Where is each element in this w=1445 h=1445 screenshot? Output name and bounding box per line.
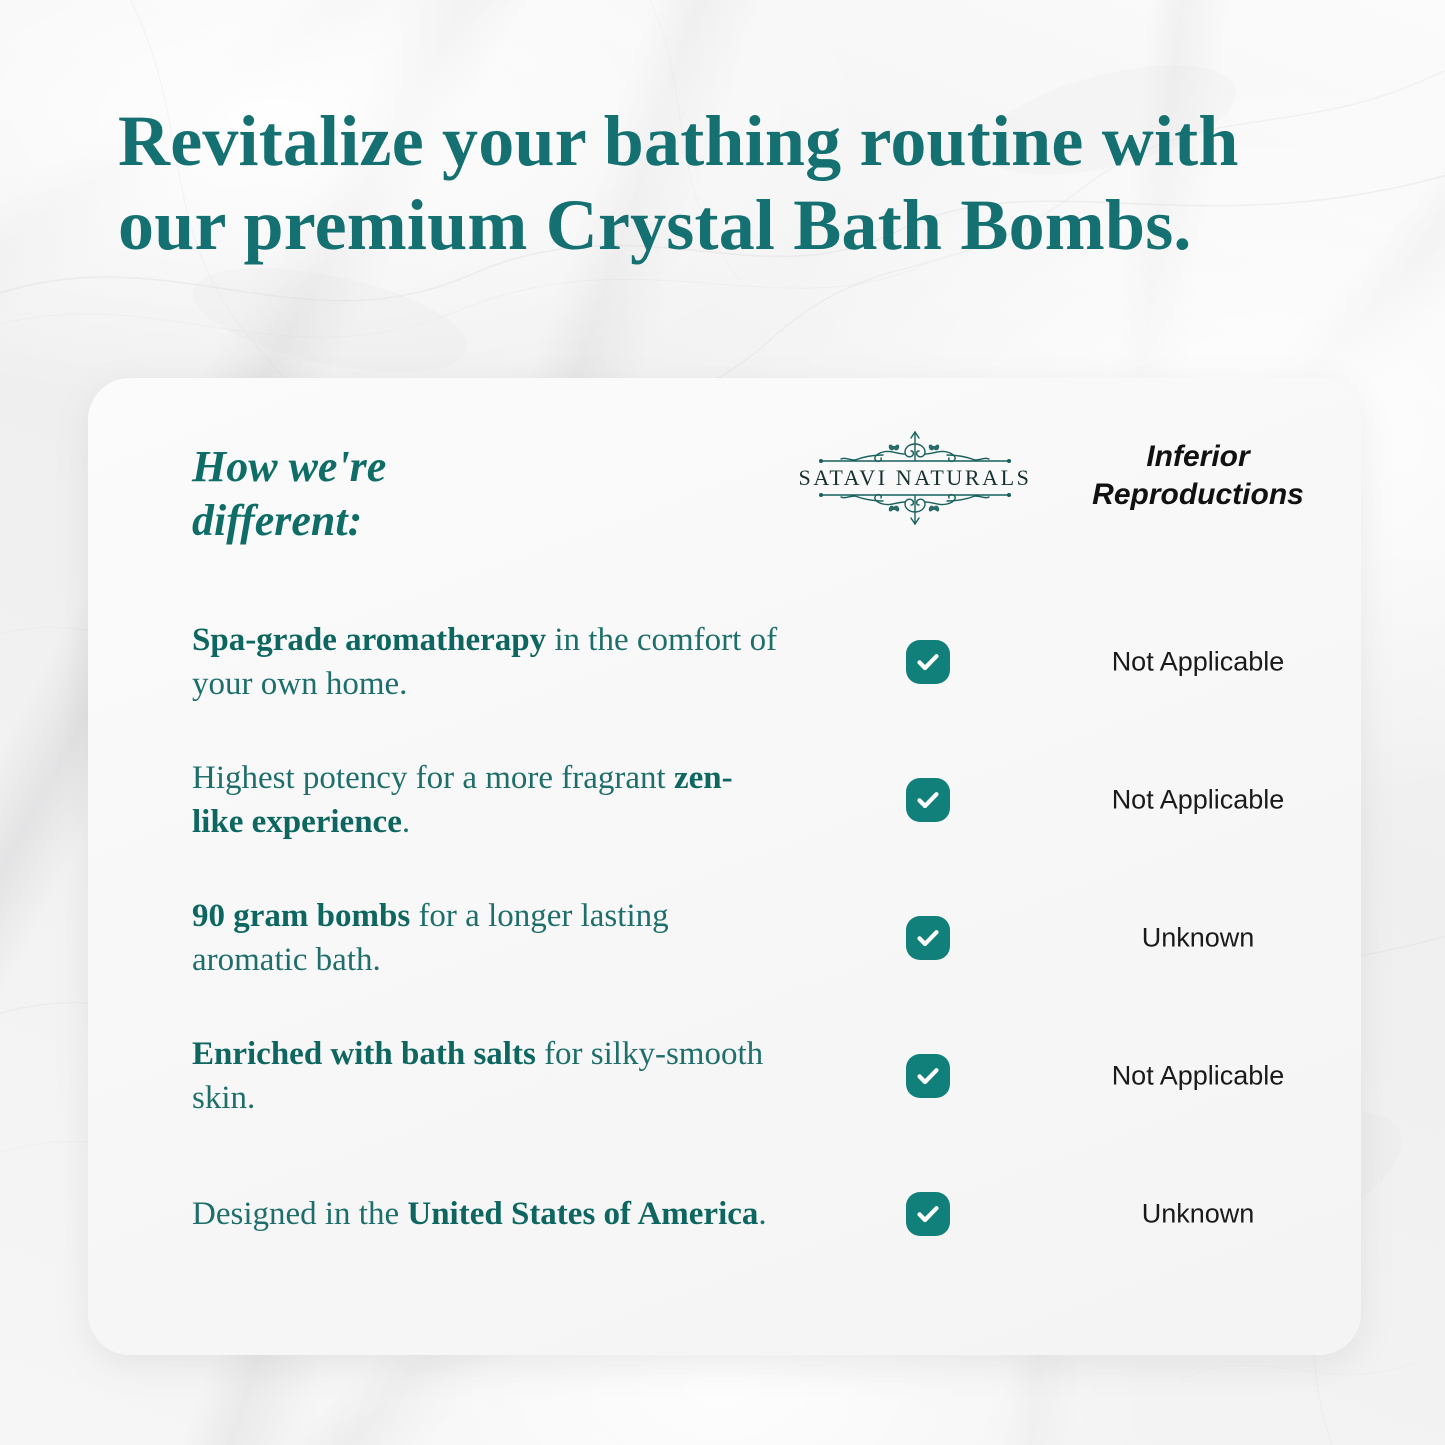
brand-check-cell — [788, 1192, 1068, 1236]
brand-check-cell — [788, 1054, 1068, 1098]
comparison-card: How we're different: — [88, 378, 1361, 1355]
page-headline: Revitalize your bathing routine with our… — [118, 100, 1348, 267]
comparison-row: Spa-grade aromatherapy in the comfort of… — [88, 602, 1361, 722]
competitor-status: Unknown — [1048, 923, 1348, 954]
feature-description: Highest potency for a more fragrant zen-… — [192, 756, 782, 844]
check-icon — [915, 1063, 941, 1089]
competitor-status: Unknown — [1048, 1199, 1348, 1230]
check-badge — [906, 1192, 950, 1236]
brand-logo: SATAVI NATURALS — [770, 430, 1060, 526]
check-icon — [915, 1201, 941, 1227]
flourish-ornament-top-icon — [801, 430, 1029, 464]
competitor-status: Not Applicable — [1048, 1061, 1348, 1092]
feature-description: Designed in the United States of America… — [192, 1192, 782, 1236]
comparison-row: Highest potency for a more fragrant zen-… — [88, 740, 1361, 860]
brand-check-cell — [788, 778, 1068, 822]
comparison-row: Designed in the United States of America… — [88, 1154, 1361, 1274]
feature-description: Spa-grade aromatherapy in the comfort of… — [192, 618, 782, 706]
brand-check-cell — [788, 640, 1068, 684]
inferior-reproductions-heading: Inferior Reproductions — [1048, 438, 1348, 514]
competitor-status: Not Applicable — [1048, 785, 1348, 816]
check-icon — [915, 925, 941, 951]
competitor-status: Not Applicable — [1048, 647, 1348, 678]
check-badge — [906, 778, 950, 822]
feature-description: 90 gram bombs for a longer lasting aroma… — [192, 894, 782, 982]
check-badge — [906, 916, 950, 960]
comparison-row: 90 gram bombs for a longer lasting aroma… — [88, 878, 1361, 998]
brand-check-cell — [788, 916, 1068, 960]
check-icon — [915, 649, 941, 675]
check-badge — [906, 640, 950, 684]
check-badge — [906, 1054, 950, 1098]
check-icon — [915, 787, 941, 813]
feature-description: Enriched with bath salts for silky-smoot… — [192, 1032, 782, 1120]
flourish-ornament-bottom-icon — [801, 492, 1029, 526]
brand-name: SATAVI NATURALS — [798, 465, 1031, 491]
how-were-different-heading: How we're different: — [192, 440, 522, 547]
comparison-row: Enriched with bath salts for silky-smoot… — [88, 1016, 1361, 1136]
